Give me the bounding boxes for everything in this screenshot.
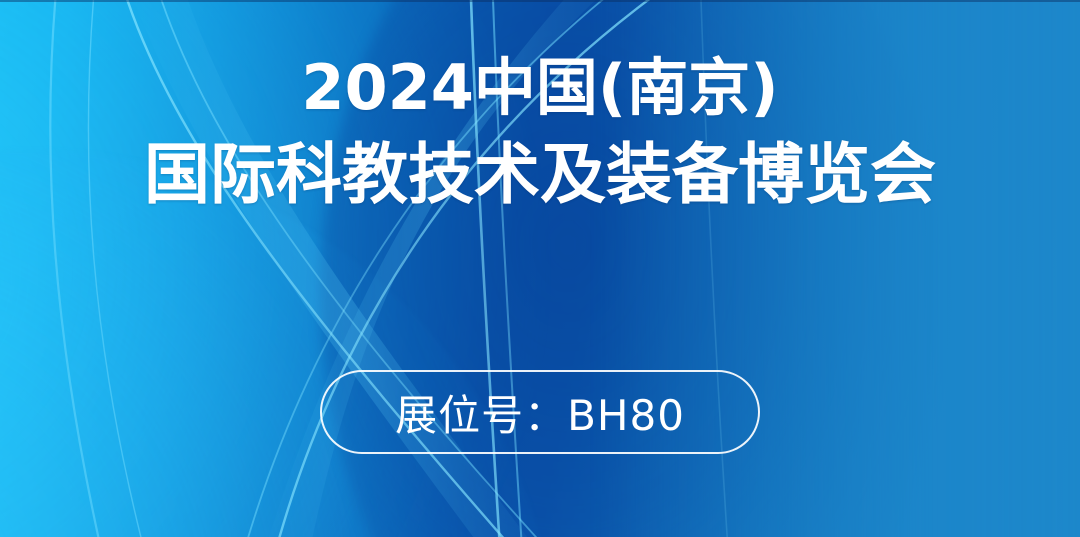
title-line-2: 国际科教技术及装备博览会 — [0, 141, 1080, 208]
booth-badge-wrap: 展位号：BH80 — [0, 370, 1080, 454]
exhibition-banner: 2024中国(南京) 国际科教技术及装备博览会 展位号：BH80 — [0, 0, 1080, 537]
title-line-1: 2024中国(南京) — [0, 56, 1080, 119]
banner-content: 2024中国(南京) 国际科教技术及装备博览会 — [0, 0, 1080, 537]
booth-number-badge: 展位号：BH80 — [320, 370, 760, 454]
title-block: 2024中国(南京) 国际科教技术及装备博览会 — [0, 56, 1080, 209]
